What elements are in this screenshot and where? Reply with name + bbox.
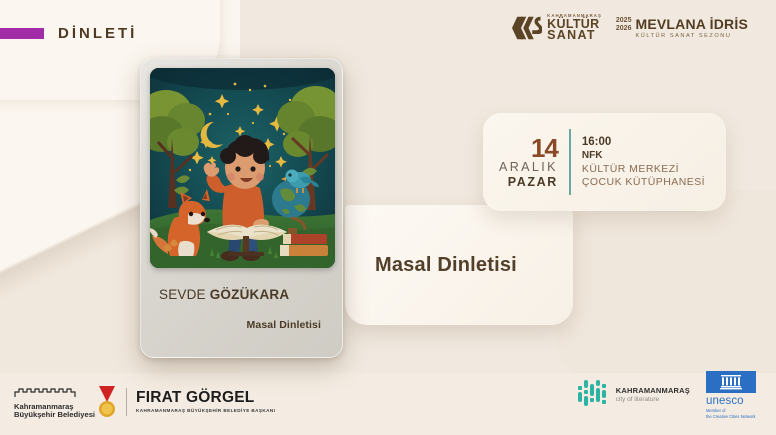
season-year-top: 2025: [616, 17, 632, 25]
event-day: 14: [499, 136, 558, 160]
poster-artwork: [150, 68, 335, 268]
poster-event-subtitle: Masal Dinletisi: [150, 319, 333, 331]
event-title-card: Masal Dinletisi: [345, 205, 573, 325]
literature-tagline: city of literature: [616, 396, 690, 403]
season-title: MEVLANA İDRİS: [635, 17, 748, 32]
artist-last-name: GÖZÜKARA: [210, 287, 290, 302]
kks-wordmark: KAHRAMANMARAŞ KÜLTÜR SANAT: [547, 14, 602, 41]
municipality-logo: Kahramanmaraş Büyükşehir Belediyesi: [14, 385, 117, 419]
mayor-block: FIRAT GÖRGEL KAHRAMANMARAŞ BÜYÜKŞEHİR BE…: [136, 390, 275, 413]
poster-canvas: DİNLETİ KAHRAMANMARAŞ KÜLTÜR SANAT 2025 …: [0, 0, 776, 435]
kks-line-2: SANAT: [547, 29, 602, 42]
literature-pixels-icon: [578, 380, 610, 410]
category-header: DİNLETİ: [0, 25, 137, 42]
municipality-line-1: Kahramanmaraş: [14, 403, 95, 411]
municipality-wordmark: Kahramanmaraş Büyükşehir Belediyesi: [14, 403, 95, 419]
season-subtitle: KÜLTÜR SANAT SEZONU: [635, 33, 748, 39]
date-block: 14 ARALIK PAZAR: [499, 136, 569, 189]
unesco-sub-line-1: Member of: [706, 408, 756, 413]
mayor-name: FIRAT GÖRGEL: [136, 390, 275, 406]
unesco-temple-icon: [720, 374, 742, 390]
event-time: 16:00: [582, 135, 705, 149]
unesco-logo: unesco Member of the Creative Cities Net…: [706, 371, 756, 419]
event-date-card: 14 ARALIK PAZAR 16:00 NFK KÜLTÜR MERKEZİ…: [483, 113, 726, 211]
illustration-boy-reading: [150, 68, 335, 268]
artist-first-name: SEVDE: [159, 287, 206, 302]
footer-right-logo-group: KAHRAMANMARAŞ city of literature unesco …: [578, 371, 756, 419]
event-title: Masal Dinletisi: [345, 254, 517, 277]
footer-left-logo-group: Kahramanmaraş Büyükşehir Belediyesi FIRA…: [14, 385, 275, 419]
venue-block: 16:00 NFK KÜLTÜR MERKEZİ ÇOCUK KÜTÜPHANE…: [571, 135, 705, 190]
event-month: ARALIK: [499, 160, 558, 175]
unesco-emblem-box: [706, 371, 756, 393]
kks-monogram-icon: [512, 15, 542, 41]
literature-city: KAHRAMANMARAŞ: [616, 387, 690, 395]
accent-bar: [0, 28, 44, 39]
background-right-panel: [556, 190, 776, 380]
unesco-sub-line-2: the Creative Cities Network: [706, 414, 756, 419]
unesco-wordmark: unesco: [706, 395, 756, 407]
mayor-role: KAHRAMANMARAŞ BÜYÜKŞEHİR BELEDİYE BAŞKAN…: [136, 408, 275, 413]
event-poster-card[interactable]: SEVDE GÖZÜKARA Masal Dinletisi: [140, 58, 343, 358]
medal-icon: [97, 385, 117, 419]
event-weekday: PAZAR: [499, 175, 558, 189]
top-right-logo-group: KAHRAMANMARAŞ KÜLTÜR SANAT 2025 2026 MEV…: [512, 14, 748, 41]
season-year-bottom: 2026: [616, 25, 632, 33]
kultur-sanat-logo: KAHRAMANMARAŞ KÜLTÜR SANAT: [512, 14, 602, 41]
venue-line-1: KÜLTÜR MERKEZİ: [582, 163, 705, 177]
footer-divider: [126, 388, 127, 416]
venue-line-2: ÇOCUK KÜTÜPHANESİ: [582, 176, 705, 190]
venue-short-name: NFK: [582, 149, 705, 163]
category-label: DİNLETİ: [58, 25, 137, 42]
poster-artist-name: SEVDE GÖZÜKARA: [150, 287, 333, 302]
season-wordmark: MEVLANA İDRİS KÜLTÜR SANAT SEZONU: [635, 17, 748, 39]
season-logo: 2025 2026 MEVLANA İDRİS KÜLTÜR SANAT SEZ…: [616, 17, 748, 39]
city-of-literature-logo: KAHRAMANMARAŞ city of literature: [578, 380, 690, 410]
city-of-literature-wordmark: KAHRAMANMARAŞ city of literature: [616, 387, 690, 403]
season-years: 2025 2026: [616, 17, 632, 33]
castle-wall-icon: [14, 388, 76, 398]
municipality-line-2: Büyükşehir Belediyesi: [14, 411, 95, 419]
